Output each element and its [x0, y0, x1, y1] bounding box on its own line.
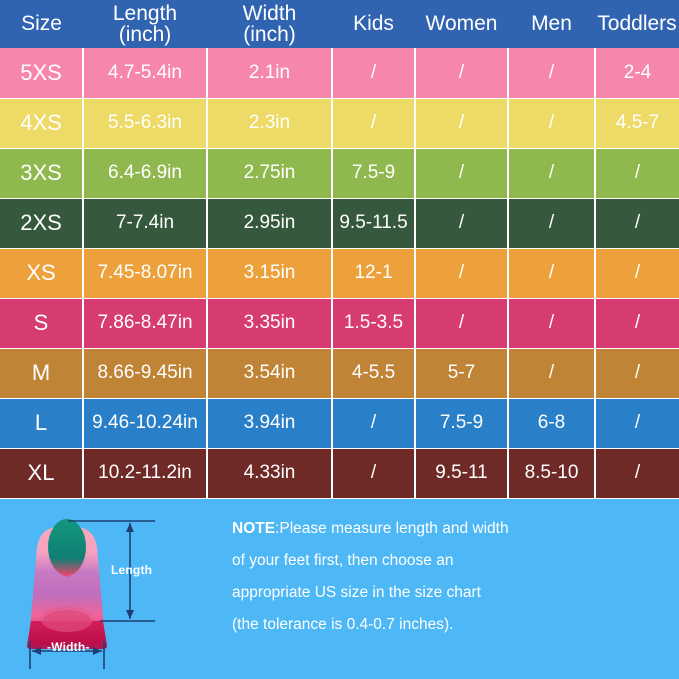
- cell-women: 9.5-11: [415, 448, 508, 498]
- cell-size: XL: [0, 448, 83, 498]
- table-row: 5XS4.7-5.4in2.1in///2-4: [0, 48, 679, 98]
- header-men: Men: [508, 0, 595, 48]
- cell-toddlers: 4.5-7: [595, 98, 679, 148]
- cell-men: /: [508, 48, 595, 98]
- note-line-4: (the tolerance is 0.4-0.7 inches).: [232, 609, 662, 641]
- cell-size: 2XS: [0, 198, 83, 248]
- cell-size: 4XS: [0, 98, 83, 148]
- cell-men: 8.5-10: [508, 448, 595, 498]
- cell-length: 7.45-8.07in: [83, 248, 207, 298]
- table-row: 2XS7-7.4in2.95in9.5-11.5///: [0, 198, 679, 248]
- cell-women: /: [415, 298, 508, 348]
- cell-kids: 7.5-9: [332, 148, 415, 198]
- cell-men: /: [508, 198, 595, 248]
- cell-width: 4.33in: [207, 448, 332, 498]
- table-row: M8.66-9.45in3.54in4-5.55-7//: [0, 348, 679, 398]
- length-arrow-top: [126, 523, 134, 532]
- cell-women: /: [415, 98, 508, 148]
- cell-size: L: [0, 398, 83, 448]
- cell-women: /: [415, 198, 508, 248]
- cell-toddlers: /: [595, 348, 679, 398]
- cell-kids: /: [332, 98, 415, 148]
- fin-illustration: Length -Width-: [0, 499, 232, 679]
- note-line-1-text: :Please measure length and width: [275, 520, 509, 537]
- header-width-main: Width: [243, 2, 297, 25]
- cell-length: 7-7.4in: [83, 198, 207, 248]
- cell-women: /: [415, 48, 508, 98]
- header-width-unit: (inch): [209, 24, 330, 45]
- note-panel: Length -Width- NOTE:Please measure lengt…: [0, 499, 679, 679]
- cell-women: /: [415, 248, 508, 298]
- cell-width: 3.94in: [207, 398, 332, 448]
- cell-kids: 12-1: [332, 248, 415, 298]
- cell-width: 2.75in: [207, 148, 332, 198]
- header-size-main: Size: [21, 12, 62, 35]
- swim-fin-diagram: [0, 499, 232, 679]
- cell-kids: 1.5-3.5: [332, 298, 415, 348]
- cell-length: 6.4-6.9in: [83, 148, 207, 198]
- note-text: NOTE:Please measure length and width of …: [232, 513, 662, 641]
- note-line-3: appropriate US size in the size chart: [232, 577, 662, 609]
- note-label: NOTE: [232, 520, 275, 537]
- length-arrow-bottom: [126, 610, 134, 619]
- cell-length: 7.86-8.47in: [83, 298, 207, 348]
- cell-women: 5-7: [415, 348, 508, 398]
- cell-kids: /: [332, 448, 415, 498]
- cell-men: /: [508, 248, 595, 298]
- header-kids-main: Kids: [353, 12, 394, 35]
- header-kids: Kids: [332, 0, 415, 48]
- table-row: XS7.45-8.07in3.15in12-1///: [0, 248, 679, 298]
- cell-length: 9.46-10.24in: [83, 398, 207, 448]
- size-chart-page: Size Length (inch) Width (inch) Kids Wom…: [0, 0, 679, 679]
- cell-toddlers: /: [595, 198, 679, 248]
- cell-length: 4.7-5.4in: [83, 48, 207, 98]
- header-toddlers-main: Toddlers: [597, 12, 676, 35]
- fin-heel-cup: [48, 519, 86, 575]
- cell-size: S: [0, 298, 83, 348]
- cell-length: 10.2-11.2in: [83, 448, 207, 498]
- note-line-1: NOTE:Please measure length and width: [232, 513, 662, 545]
- header-row: Size Length (inch) Width (inch) Kids Wom…: [0, 0, 679, 48]
- cell-toddlers: /: [595, 298, 679, 348]
- cell-women: 7.5-9: [415, 398, 508, 448]
- table-row: S7.86-8.47in3.35in1.5-3.5///: [0, 298, 679, 348]
- header-width: Width (inch): [207, 0, 332, 48]
- cell-toddlers: /: [595, 398, 679, 448]
- table-row: L9.46-10.24in3.94in/7.5-96-8/: [0, 398, 679, 448]
- cell-width: 2.3in: [207, 98, 332, 148]
- header-length-unit: (inch): [85, 24, 205, 45]
- table-body: 5XS4.7-5.4in2.1in///2-44XS5.5-6.3in2.3in…: [0, 48, 679, 498]
- table-row: XL10.2-11.2in4.33in/9.5-118.5-10/: [0, 448, 679, 498]
- cell-length: 8.66-9.45in: [83, 348, 207, 398]
- header-women-main: Women: [426, 12, 498, 35]
- cell-toddlers: /: [595, 248, 679, 298]
- cell-length: 5.5-6.3in: [83, 98, 207, 148]
- header-men-main: Men: [531, 12, 572, 35]
- cell-men: /: [508, 298, 595, 348]
- length-dimension-label: Length: [111, 563, 152, 577]
- table-row: 3XS6.4-6.9in2.75in7.5-9///: [0, 148, 679, 198]
- cell-toddlers: /: [595, 148, 679, 198]
- cell-toddlers: /: [595, 448, 679, 498]
- size-chart-table: Size Length (inch) Width (inch) Kids Wom…: [0, 0, 679, 499]
- table-header: Size Length (inch) Width (inch) Kids Wom…: [0, 0, 679, 48]
- cell-size: M: [0, 348, 83, 398]
- table-row: 4XS5.5-6.3in2.3in///4.5-7: [0, 98, 679, 148]
- cell-size: 5XS: [0, 48, 83, 98]
- cell-size: XS: [0, 248, 83, 298]
- width-dimension-label: -Width-: [47, 640, 90, 654]
- cell-men: 6-8: [508, 398, 595, 448]
- cell-kids: 9.5-11.5: [332, 198, 415, 248]
- cell-men: /: [508, 98, 595, 148]
- cell-width: 2.1in: [207, 48, 332, 98]
- cell-men: /: [508, 148, 595, 198]
- cell-toddlers: 2-4: [595, 48, 679, 98]
- header-size: Size: [0, 0, 83, 48]
- header-length-main: Length: [113, 2, 177, 25]
- header-women: Women: [415, 0, 508, 48]
- cell-width: 3.15in: [207, 248, 332, 298]
- header-toddlers: Toddlers: [595, 0, 679, 48]
- note-line-2: of your feet first, then choose an: [232, 545, 662, 577]
- cell-width: 3.35in: [207, 298, 332, 348]
- cell-women: /: [415, 148, 508, 198]
- cell-kids: 4-5.5: [332, 348, 415, 398]
- cell-width: 3.54in: [207, 348, 332, 398]
- cell-width: 2.95in: [207, 198, 332, 248]
- cell-kids: /: [332, 48, 415, 98]
- cell-kids: /: [332, 398, 415, 448]
- header-length: Length (inch): [83, 0, 207, 48]
- fin-foot-opening-inner: [43, 610, 91, 632]
- cell-men: /: [508, 348, 595, 398]
- cell-size: 3XS: [0, 148, 83, 198]
